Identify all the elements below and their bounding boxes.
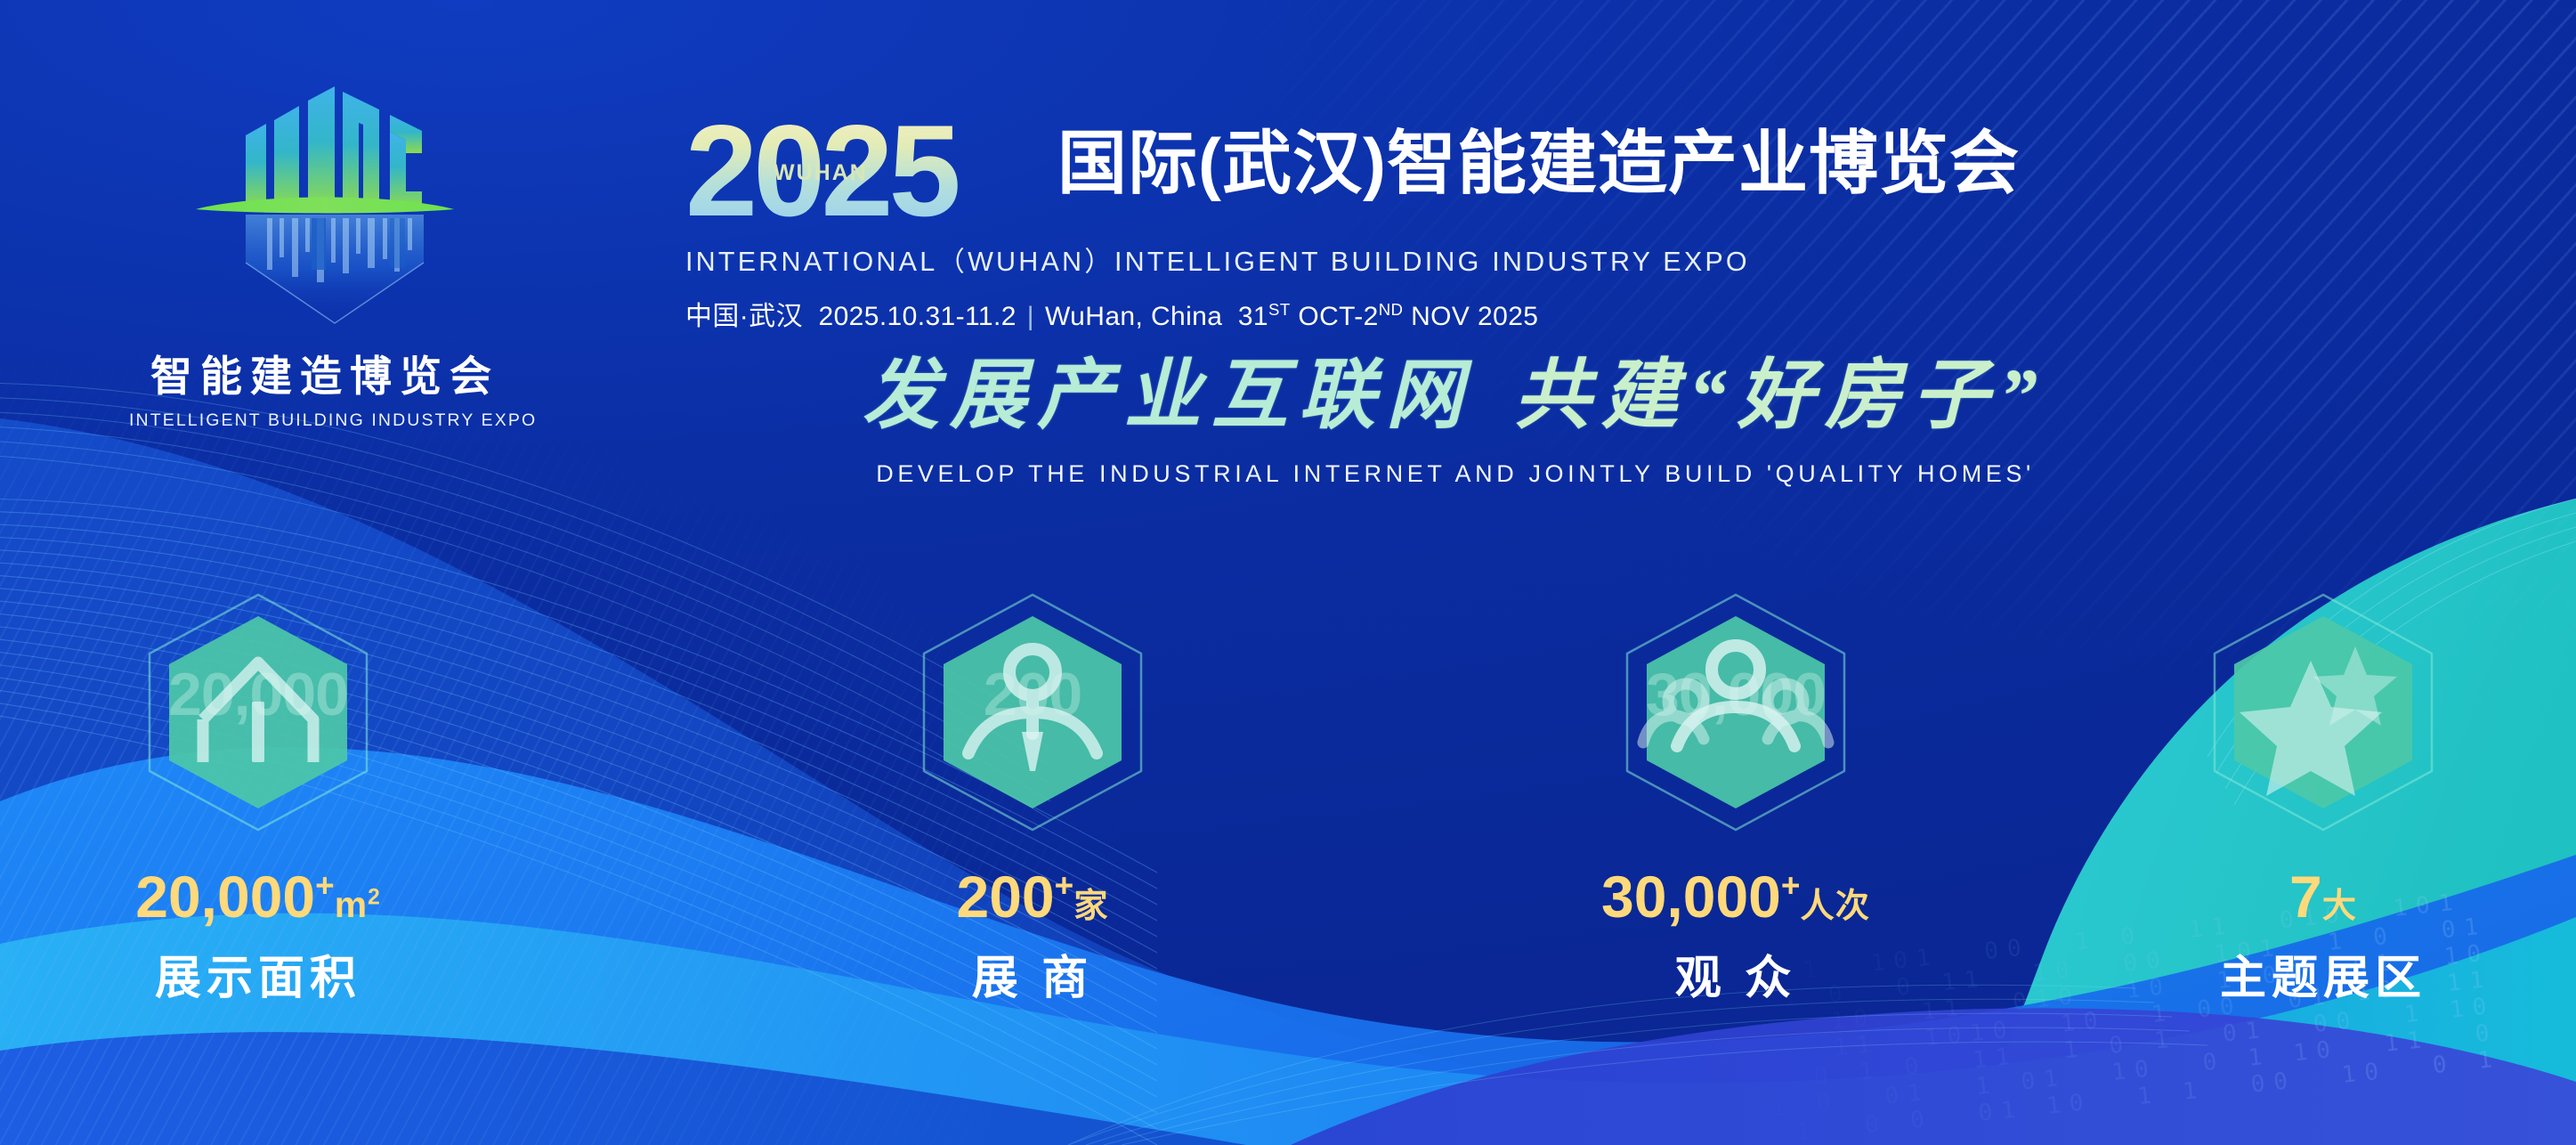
stat-value-4: 7大 xyxy=(2118,867,2528,926)
stat-unit-2: 家 xyxy=(1073,887,1108,925)
event-date-line: 中国·武汉 2025.10.31-11.2|WuHan, China 31ST … xyxy=(685,294,2181,333)
stat-plus-2: + xyxy=(1055,867,1074,904)
date-en-month1: OCT-2 xyxy=(1298,302,1378,331)
person-network-icon xyxy=(899,588,1166,837)
stat-value-2: 200+家 xyxy=(828,867,1237,926)
slogan-chinese-part1: 发展产业互联网 xyxy=(863,353,1473,438)
stat-value-3: 30,000+人次 xyxy=(1531,867,1940,926)
slogan-english: DEVELOP THE INDUSTRIAL INTERNET AND JOIN… xyxy=(806,460,2105,488)
stat-unit-4: 大 xyxy=(2322,887,2357,925)
stats-row: 20,000 20,000+m2 展示面积 xyxy=(0,588,2576,1086)
stat-value-1: 20,000+m2 xyxy=(53,867,463,926)
stat-card-exhibitors: 200 200+家 展 商 xyxy=(828,588,1237,1007)
slogan-chinese: 发展产业互联网共建“好房子” xyxy=(806,354,2105,437)
date-city-en: WuHan, China xyxy=(1045,302,1222,331)
header-title-block: 2025 WUHAN 国际(武汉)智能建造产业博览会 INTERNATIONAL… xyxy=(685,125,2181,333)
stat-unit-1: m2 xyxy=(335,884,381,925)
stat-hex-4 xyxy=(2190,588,2457,837)
logo-chinese-name: 智能建造博览会 xyxy=(129,342,521,403)
stat-plus-1: + xyxy=(315,867,335,904)
slogan-chinese-part2: 共建“好房子” xyxy=(1514,353,2048,438)
stat-number-2: 200 xyxy=(957,864,1055,930)
year-badge: 2025 WUHAN xyxy=(685,118,1057,224)
slogan-block: 发展产业互联网共建“好房子” DEVELOP THE INDUSTRIAL IN… xyxy=(806,354,2105,488)
stat-hex-3: 30,000 xyxy=(1602,588,1869,837)
page-title-english: INTERNATIONAL（WUHAN）INTELLIGENT BUILDING… xyxy=(685,240,2181,279)
people-group-icon xyxy=(1602,588,1869,837)
stat-unit-sup-1: 2 xyxy=(368,885,381,909)
stat-number-1: 20,000 xyxy=(135,864,315,930)
stat-label-4: 主题展区 xyxy=(2118,940,2528,1007)
stat-card-visitors: 30,000 30,000+人次 xyxy=(1531,588,1940,1007)
expo-banner: 01 10 0 1 101 00 1 0 11 010 101 1 0 01 1… xyxy=(0,0,2576,1145)
date-en-month2: NOV 2025 xyxy=(1411,302,1538,331)
year-overlay-wuhan: WUHAN xyxy=(774,160,868,186)
date-en-day2-sup: ND xyxy=(1379,300,1404,319)
expo-logo: 智能建造博览会 INTELLIGENT BUILDING INDUSTRY EX… xyxy=(129,85,521,431)
year-text: 2025 xyxy=(685,118,1057,224)
hexagon-building-logo-icon xyxy=(160,85,490,334)
stat-label-2: 展 商 xyxy=(828,940,1237,1007)
date-en-day1: 31 xyxy=(1238,302,1268,331)
stat-hex-2: 200 xyxy=(899,588,1166,837)
stat-card-theme-zones: 7大 主题展区 xyxy=(2118,588,2528,1007)
stat-unit-text-1: m xyxy=(335,884,368,925)
stars-icon xyxy=(2190,588,2457,837)
stat-number-4: 7 xyxy=(2289,864,2322,930)
date-separator: | xyxy=(1027,302,1034,331)
date-city-cn: 中国·武汉 xyxy=(685,302,803,331)
date-cn: 2025.10.31-11.2 xyxy=(818,302,1016,331)
stat-label-1: 展示面积 xyxy=(53,940,463,1007)
stat-label-3: 观 众 xyxy=(1531,940,1940,1007)
stat-number-3: 30,000 xyxy=(1601,864,1781,930)
house-icon xyxy=(125,588,392,837)
stat-hex-1: 20,000 xyxy=(125,588,392,837)
stat-card-exhibition-area: 20,000 20,000+m2 展示面积 xyxy=(53,588,463,1007)
stat-unit-3: 人次 xyxy=(1800,887,1870,925)
date-en-day1-sup: ST xyxy=(1268,300,1291,319)
logo-english-name: INTELLIGENT BUILDING INDUSTRY EXPO xyxy=(129,410,521,431)
stat-plus-3: + xyxy=(1781,867,1801,904)
page-title-chinese: 国际(武汉)智能建造产业博览会 xyxy=(1057,128,2181,198)
